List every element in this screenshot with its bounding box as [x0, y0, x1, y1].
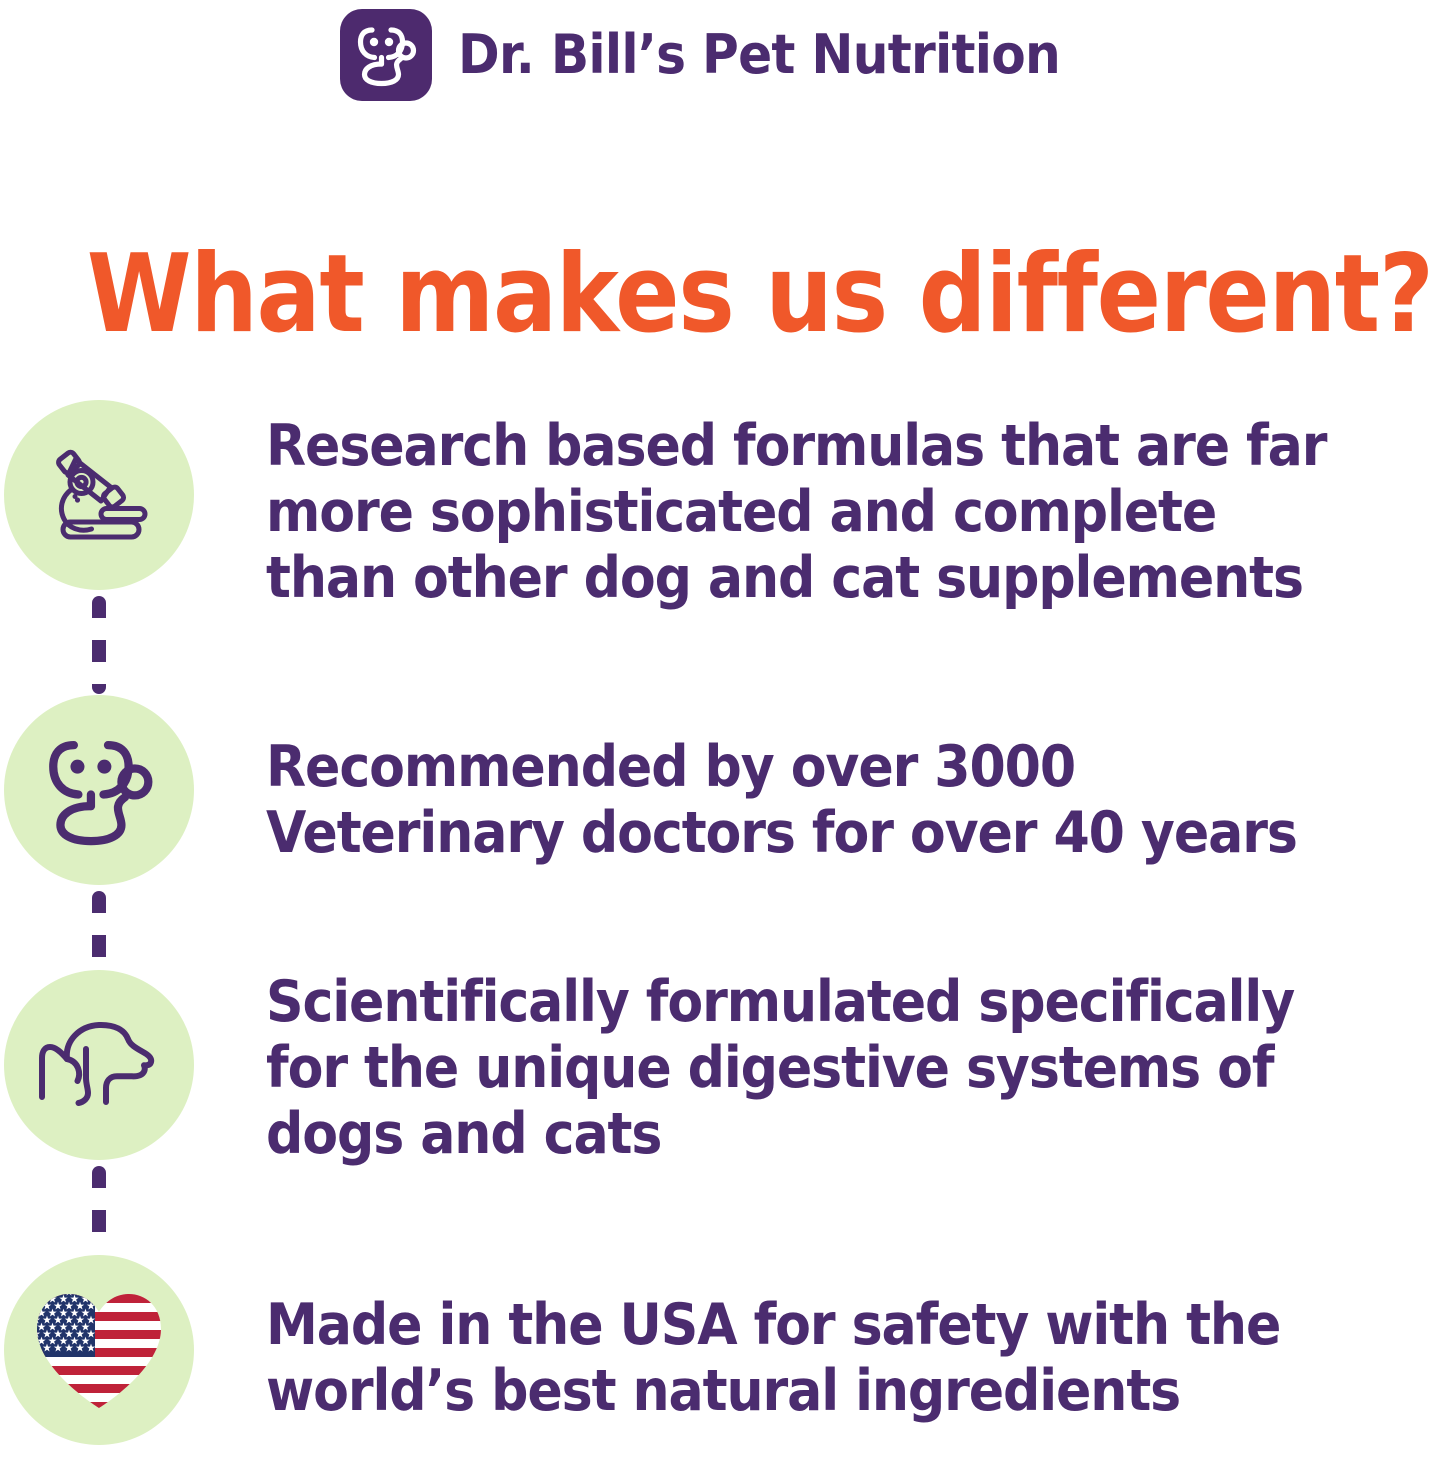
feature-text: Recommended by over 3000 Veterinary doct… [266, 735, 1337, 867]
stethoscope-face-icon [340, 9, 432, 101]
feature-text: Research based formulas that are far mor… [266, 414, 1337, 611]
stethoscope-face-icon [4, 695, 194, 885]
brand-header: Dr. Bill’s Pet Nutrition [0, 0, 1445, 110]
brand-name: Dr. Bill’s Pet Nutrition [458, 28, 1060, 82]
page-title: What makes us different? [87, 238, 1359, 351]
connector-dashed-line [92, 1166, 106, 1254]
feature-text: Scientifically formulated specifically f… [266, 970, 1337, 1167]
feature-item: Research based formulas that are far mor… [0, 400, 1445, 611]
usa-flag-heart-icon [4, 1255, 194, 1445]
dog-and-cat-icon [4, 970, 194, 1160]
feature-item: Recommended by over 3000 Veterinary doct… [0, 695, 1445, 885]
feature-item: Scientifically formulated specifically f… [0, 970, 1445, 1167]
feature-text: Made in the USA for safety with the worl… [266, 1293, 1337, 1425]
feature-item: Made in the USA for safety with the worl… [0, 1255, 1445, 1445]
microscope-icon [4, 400, 194, 590]
connector-dashed-line [92, 891, 106, 969]
feature-list: Research based formulas that are far mor… [0, 400, 1445, 1468]
